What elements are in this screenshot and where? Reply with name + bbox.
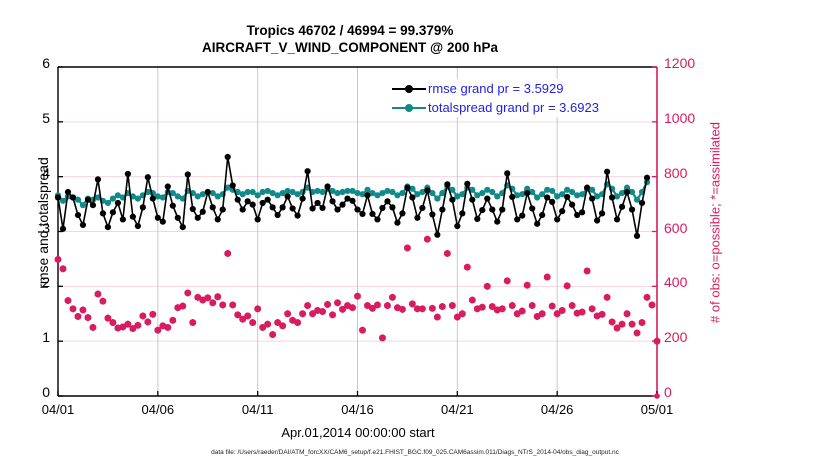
x-tick: 04/11	[228, 402, 288, 417]
y-tick-right: 800	[664, 168, 724, 178]
y-tick-left: 5	[0, 113, 50, 123]
y-tick-right: 1200	[664, 58, 724, 68]
y-tick-left: 3	[0, 223, 50, 233]
y-tick-left: 0	[0, 387, 50, 397]
legend-marker-rmse	[392, 83, 426, 95]
legend-item-totalspread: totalspread grand pr = 3.6923	[392, 98, 650, 117]
y-tick-right: 0	[664, 387, 724, 397]
x-tick: 04/16	[328, 402, 388, 417]
chart-figure: Tropics 46702 / 46994 = 99.379% AIRCRAFT…	[0, 0, 830, 470]
y-tick-right: 400	[664, 277, 724, 287]
legend-item-rmse: rmse grand pr = 3.5929	[392, 79, 650, 98]
y-tick-right: 600	[664, 223, 724, 233]
y-tick-left: 6	[0, 58, 50, 68]
x-tick: 04/01	[28, 402, 88, 417]
chart-legend: rmse grand pr = 3.5929 totalspread grand…	[392, 79, 650, 117]
y-tick-right: 200	[664, 332, 724, 342]
plot-canvas	[0, 0, 830, 470]
x-tick: 04/21	[427, 402, 487, 417]
y-tick-left: 4	[0, 168, 50, 178]
y-tick-right: 1000	[664, 113, 724, 123]
x-tick: 04/06	[128, 402, 188, 417]
y-tick-left: 1	[0, 332, 50, 342]
legend-label-rmse: rmse grand pr = 3.5929	[428, 81, 564, 96]
legend-marker-totalspread	[392, 102, 426, 114]
y-tick-left: 2	[0, 277, 50, 287]
x-tick: 05/01	[627, 402, 687, 417]
legend-label-totalspread: totalspread grand pr = 3.6923	[428, 100, 599, 115]
x-tick: 04/26	[527, 402, 587, 417]
